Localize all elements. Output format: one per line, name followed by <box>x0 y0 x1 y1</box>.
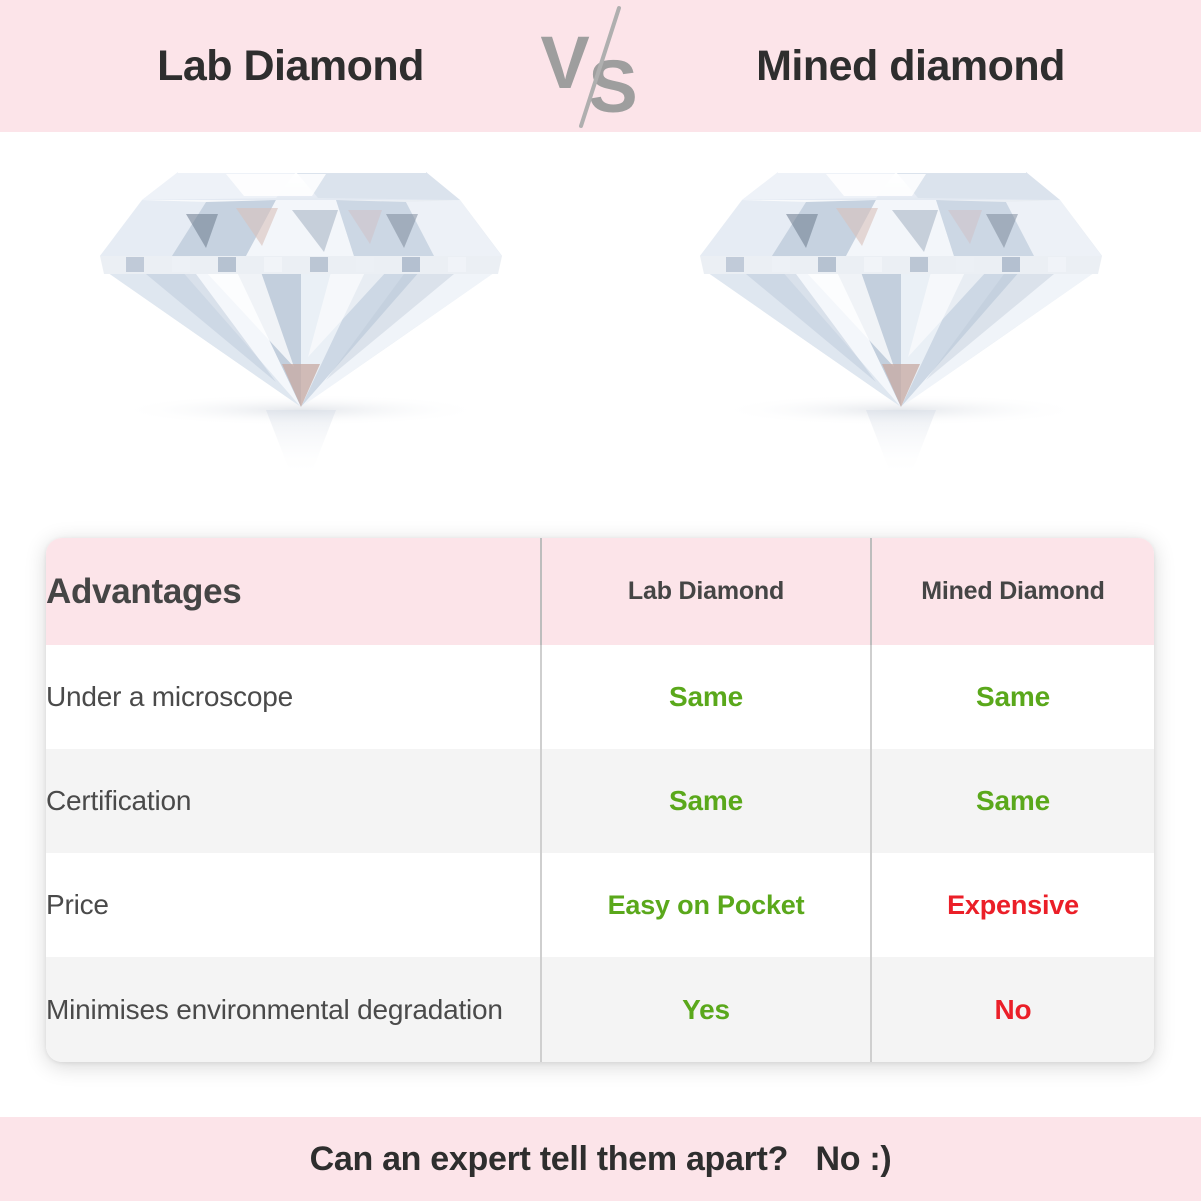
diamond-icon-mined <box>686 152 1116 482</box>
row-value-lab-under-a-microscope: Same <box>541 645 871 749</box>
row-value-lab-price: Easy on Pocket <box>541 853 871 957</box>
footer-band: Can an expert tell them apart? No :) <box>0 1117 1201 1201</box>
row-label-certification: Certification <box>46 749 541 853</box>
row-value-mined-certification: Same <box>871 749 1154 853</box>
row-value-mined-minimises-environmental-degradation: No <box>871 957 1154 1062</box>
column-header-advantages: Advantages <box>46 538 541 645</box>
column-header-lab-diamond: Lab Diamond <box>541 538 871 645</box>
header-band: Lab Diamond V S Mined diamond <box>0 0 1201 132</box>
row-label-minimises-environmental-degradation: Minimises environmental degradation <box>46 957 541 1062</box>
row-label-price: Price <box>46 853 541 957</box>
vs-badge: V S <box>541 0 661 132</box>
table-header-row: Advantages Lab Diamond Mined Diamond <box>46 538 1154 645</box>
row-value-mined-under-a-microscope: Same <box>871 645 1154 749</box>
row-value-lab-certification: Same <box>541 749 871 853</box>
table-body: Under a microscope Same Same Certificati… <box>46 645 1154 1062</box>
table-row: Under a microscope Same Same <box>46 645 1154 749</box>
vs-icon: V S <box>541 0 661 132</box>
diamond-comparison-images <box>0 132 1201 532</box>
diamond-icon-lab <box>86 152 516 482</box>
table-row: Certification Same Same <box>46 749 1154 853</box>
column-header-mined-diamond: Mined Diamond <box>871 538 1154 645</box>
mined-diamond-image <box>601 132 1201 532</box>
table-row: Price Easy on Pocket Expensive <box>46 853 1154 957</box>
footer-question-answer: Can an expert tell them apart? No :) <box>310 1140 892 1179</box>
row-label-under-a-microscope: Under a microscope <box>46 645 541 749</box>
table-row: Minimises environmental degradation Yes … <box>46 957 1154 1062</box>
lab-diamond-image <box>1 132 601 532</box>
row-value-lab-minimises-environmental-degradation: Yes <box>541 957 871 1062</box>
page-title-lab-diamond: Lab Diamond <box>41 42 541 91</box>
row-value-mined-price: Expensive <box>871 853 1154 957</box>
svg-text:V: V <box>541 21 590 104</box>
comparison-table-card: Advantages Lab Diamond Mined Diamond Und… <box>46 538 1154 1062</box>
table-header: Advantages Lab Diamond Mined Diamond <box>46 538 1154 645</box>
page-title-mined-diamond: Mined diamond <box>661 42 1161 91</box>
comparison-table: Advantages Lab Diamond Mined Diamond Und… <box>46 538 1154 1062</box>
